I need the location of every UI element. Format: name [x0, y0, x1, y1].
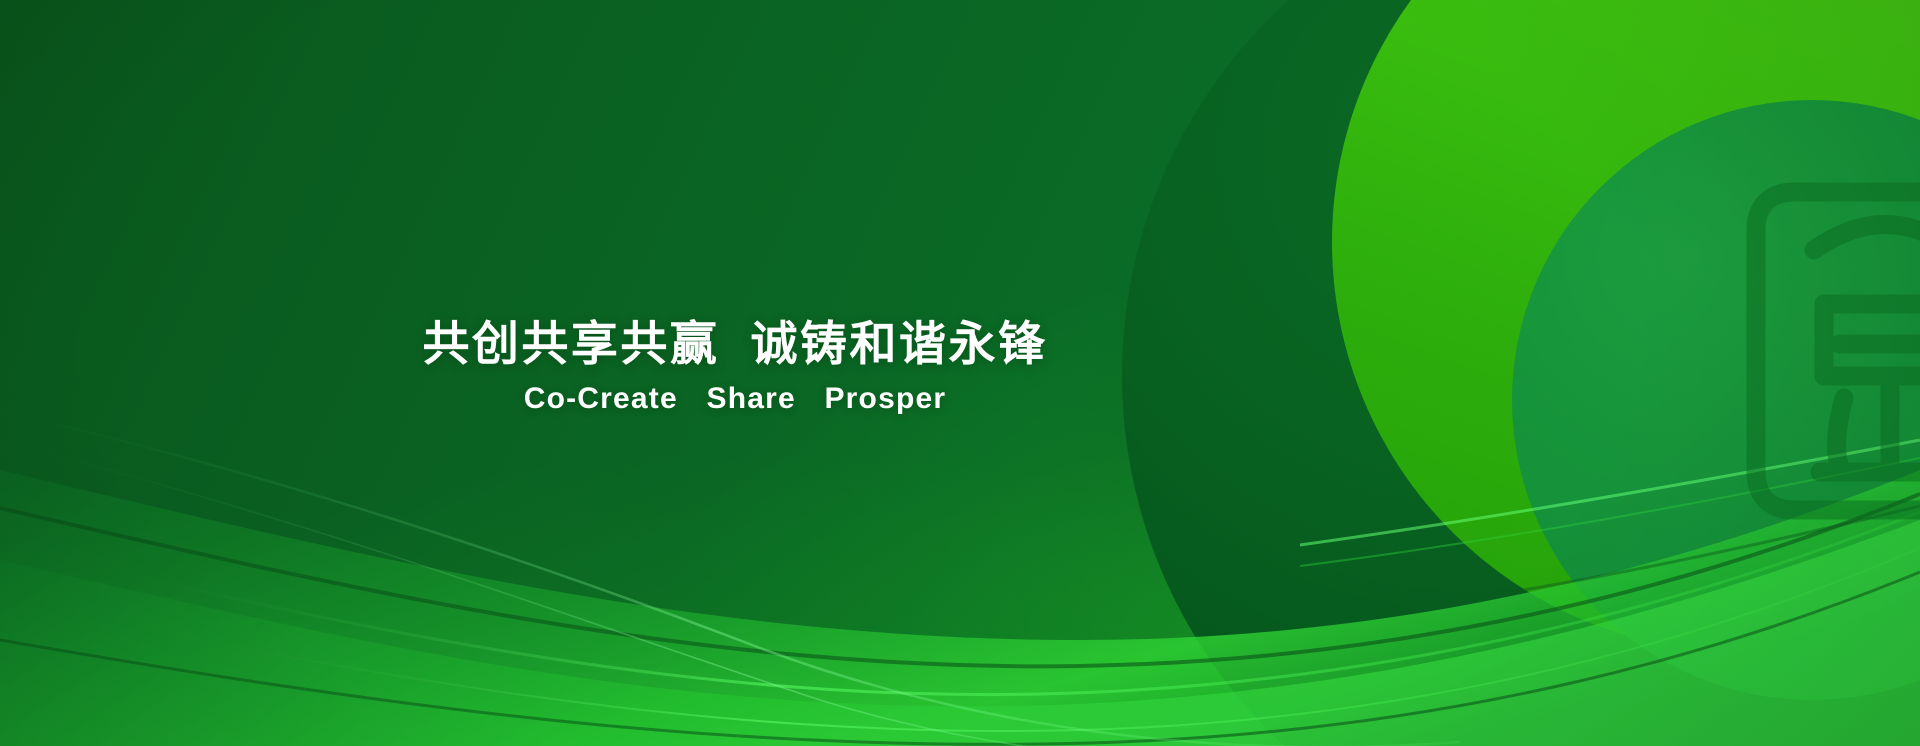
- slogan-block: 共创共享共赢 诚铸和谐永锋 Co-Create Share Prosper: [0, 316, 1470, 417]
- slogan-headline-chinese: 共创共享共赢 诚铸和谐永锋: [0, 316, 1470, 371]
- slogan-subline-english: Co-Create Share Prosper: [0, 381, 1470, 417]
- brand-banner: 共创共享共赢 诚铸和谐永锋 Co-Create Share Prosper: [0, 0, 1920, 746]
